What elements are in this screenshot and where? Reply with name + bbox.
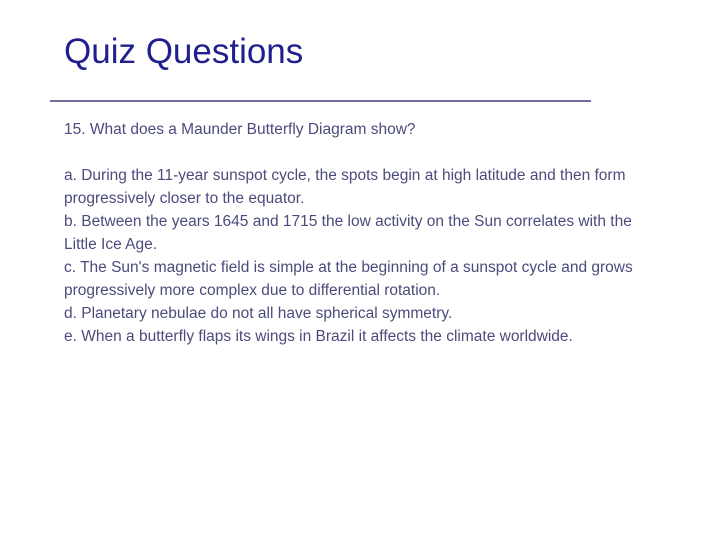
answer-option-e[interactable]: e. When a butterfly flaps its wings in B…	[64, 325, 644, 348]
quiz-body: 15. What does a Maunder Butterfly Diagra…	[64, 118, 644, 348]
spacer	[64, 141, 644, 164]
page-title: Quiz Questions	[64, 30, 664, 74]
answer-option-c[interactable]: c. The Sun's magnetic field is simple at…	[64, 256, 644, 302]
slide-canvas: Quiz Questions 15. What does a Maunder B…	[0, 0, 720, 539]
question-text: 15. What does a Maunder Butterfly Diagra…	[64, 118, 644, 141]
answer-option-b[interactable]: b. Between the years 1645 and 1715 the l…	[64, 210, 644, 256]
answer-option-d[interactable]: d. Planetary nebulae do not all have sph…	[64, 302, 644, 325]
answer-option-a[interactable]: a. During the 11-year sunspot cycle, the…	[64, 164, 644, 210]
title-divider	[50, 100, 591, 102]
